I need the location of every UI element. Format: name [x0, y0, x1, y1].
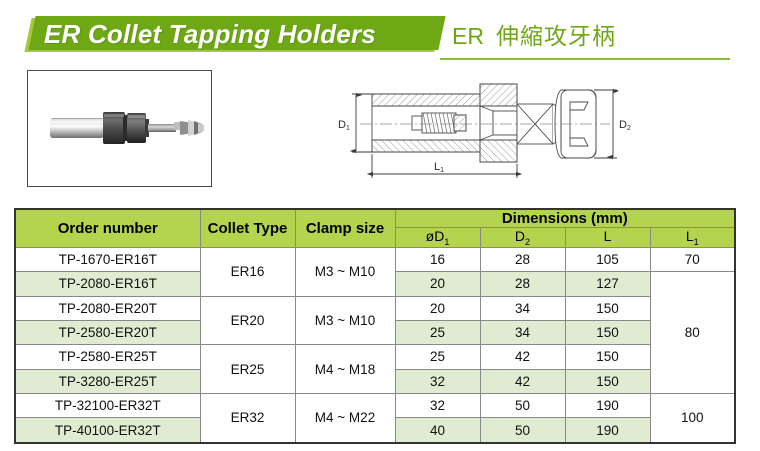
cell-l: 150 [565, 320, 650, 344]
cell-order: TP-40100-ER32T [15, 418, 200, 443]
cell-d1: 32 [395, 369, 480, 393]
table-row[interactable]: TP-2580-ER25T ER25 M4 ~ M18 25 42 150 [15, 345, 735, 369]
cell-order: TP-2080-ER16T [15, 272, 200, 296]
col-dim-d1: øD1 [395, 228, 480, 248]
cell-l1: 100 [650, 393, 735, 443]
cell-d2: 50 [480, 418, 565, 443]
page-title: ER Collet Tapping Holders [44, 19, 444, 49]
cell-d2: 42 [480, 369, 565, 393]
cell-order: TP-2580-ER25T [15, 345, 200, 369]
subtitle-group: ER伸縮攻牙柄 [452, 20, 616, 52]
drawing-label-l1: L1 [434, 161, 444, 174]
table-row[interactable]: TP-2080-ER20T ER20 M3 ~ M10 20 34 150 [15, 296, 735, 320]
cell-l: 190 [565, 393, 650, 417]
cell-d1: 20 [395, 296, 480, 320]
table-row[interactable]: TP-1670-ER16T ER16 M3 ~ M10 16 28 105 70 [15, 247, 735, 271]
cell-order: TP-2080-ER20T [15, 296, 200, 320]
product-photo [28, 71, 211, 186]
col-order-number: Order number [15, 209, 200, 247]
subtitle-code: ER [452, 23, 484, 49]
col-dim-d2: D2 [480, 228, 565, 248]
cell-clamp: M3 ~ M10 [295, 296, 395, 345]
cell-d1: 16 [395, 247, 480, 271]
technical-drawing: D1 D2 L1 [330, 68, 640, 188]
cell-d2: 34 [480, 296, 565, 320]
col-dim-l1: L1 [650, 228, 735, 248]
col-collet-type: Collet Type [200, 209, 295, 247]
cell-clamp: M4 ~ M18 [295, 345, 395, 394]
cell-order: TP-3280-ER25T [15, 369, 200, 393]
header-underline [440, 58, 730, 60]
table-row[interactable]: TP-32100-ER32T ER32 M4 ~ M22 32 50 190 1… [15, 393, 735, 417]
cell-l: 105 [565, 247, 650, 271]
cell-clamp: M3 ~ M10 [295, 247, 395, 296]
cell-order: TP-1670-ER16T [15, 247, 200, 271]
product-photo-box [27, 70, 212, 187]
cell-l1: 80 [650, 272, 735, 394]
drawing-label-d2: D2 [619, 119, 631, 132]
cell-l: 150 [565, 369, 650, 393]
col-clamp-size: Clamp size [295, 209, 395, 247]
cell-l1: 70 [650, 247, 735, 271]
cell-collet: ER25 [200, 345, 295, 394]
cell-order: TP-32100-ER32T [15, 393, 200, 417]
cell-collet: ER16 [200, 247, 295, 296]
cell-clamp: M4 ~ M22 [295, 393, 395, 443]
drawing-label-d1: D1 [338, 119, 350, 132]
spec-table-wrapper: Order number Collet Type Clamp size Dime… [14, 208, 734, 444]
cell-d2: 34 [480, 320, 565, 344]
cell-d1: 25 [395, 345, 480, 369]
cell-d2: 50 [480, 393, 565, 417]
page-header: ER Collet Tapping Holders ER伸縮攻牙柄 [0, 8, 760, 58]
cell-d2: 28 [480, 247, 565, 271]
cell-collet: ER20 [200, 296, 295, 345]
cell-d1: 40 [395, 418, 480, 443]
spec-table: Order number Collet Type Clamp size Dime… [14, 208, 736, 444]
cell-d1: 20 [395, 272, 480, 296]
product-spec-page: ER Collet Tapping Holders ER伸縮攻牙柄 [0, 0, 760, 451]
cell-order: TP-2580-ER20T [15, 320, 200, 344]
cell-collet: ER32 [200, 393, 295, 443]
cell-d1: 25 [395, 320, 480, 344]
cell-d2: 28 [480, 272, 565, 296]
subtitle-cjk: 伸縮攻牙柄 [496, 23, 616, 49]
col-dim-l: L [565, 228, 650, 248]
cell-l: 127 [565, 272, 650, 296]
table-body: TP-1670-ER16T ER16 M3 ~ M10 16 28 105 70… [15, 247, 735, 443]
cross-section-svg: D1 D2 L1 [330, 68, 640, 188]
cell-l: 150 [565, 296, 650, 320]
cell-l: 150 [565, 345, 650, 369]
header-row-main: Order number Collet Type Clamp size Dime… [15, 209, 735, 228]
col-dimensions: Dimensions (mm) [395, 209, 735, 228]
cell-l: 190 [565, 418, 650, 443]
table-head: Order number Collet Type Clamp size Dime… [15, 209, 735, 247]
cell-d1: 32 [395, 393, 480, 417]
cell-d2: 42 [480, 345, 565, 369]
